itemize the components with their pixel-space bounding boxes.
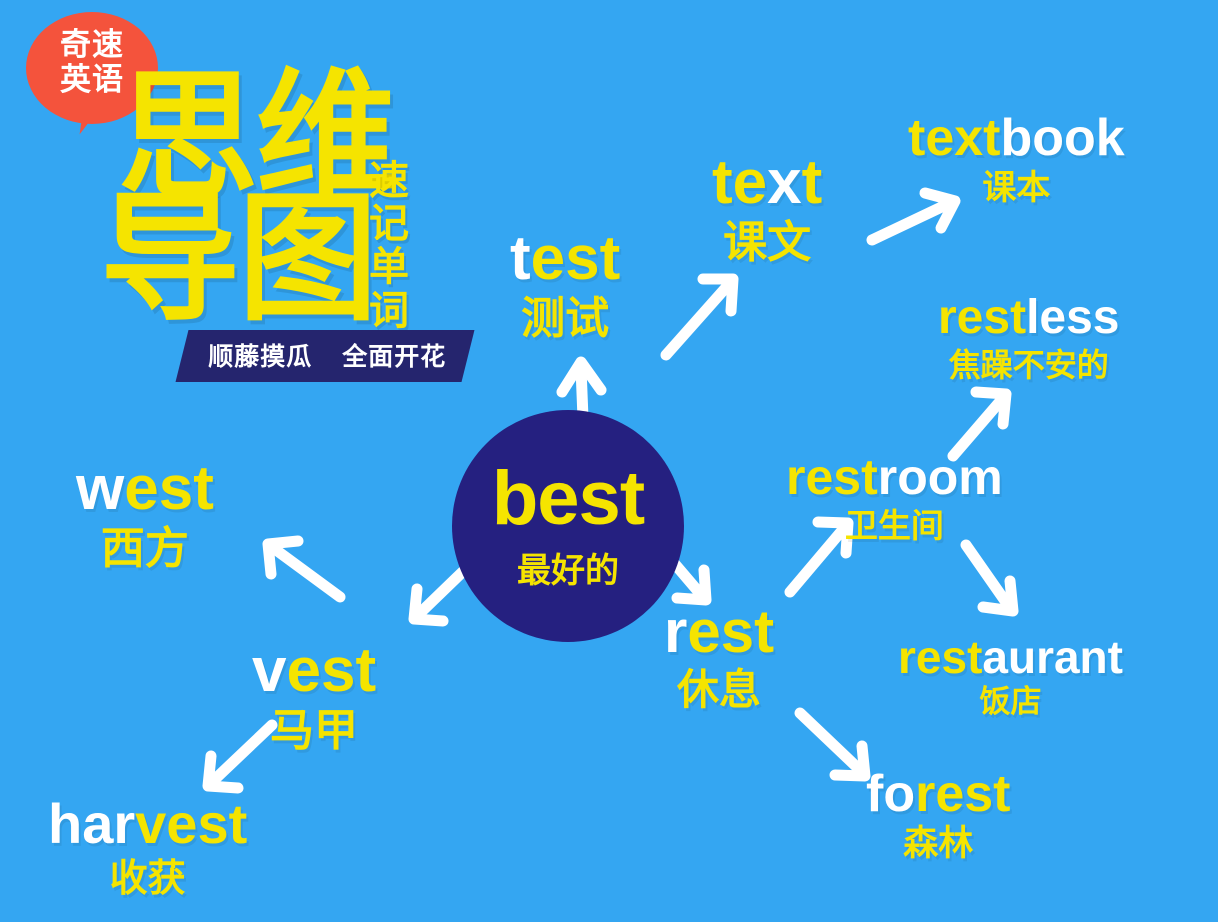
word-node-west[interactable]: west 西方 [76,458,214,571]
word-node-restroom[interactable]: restroom 卫生间 [786,452,1003,542]
arrow-restroom-restless [953,392,1006,456]
word-restroom-cn: 卫生间 [786,509,1003,542]
word-rest-en: rest [664,602,774,662]
center-word: best [492,461,644,537]
word-harvest-cn: 收获 [48,859,247,897]
title-line-2: 导图 [100,196,376,325]
word-node-harvest[interactable]: harvest 收获 [48,796,247,897]
word-textbook-cn: 课本 [908,171,1125,205]
title-vertical-subtitle: 速 记 单 词 [360,160,418,333]
word-node-textbook[interactable]: textbook 课本 [908,112,1125,205]
word-test-cn: 测试 [510,297,620,341]
word-restaurant-cn: 饭店 [898,687,1123,718]
vertical-char-4: 词 [360,290,418,333]
center-meaning: 最好的 [517,543,619,592]
banner-text-left: 顺藤摸瓜 [208,337,312,373]
center-node-best[interactable]: best 最好的 [452,410,684,642]
word-restless-cn: 焦躁不安的 [938,349,1119,381]
banner-text-right: 全面开花 [342,337,446,373]
arrow-test-text [666,279,733,355]
word-vest-en: vest [252,640,376,702]
arrow-restroom-restaurant [966,545,1013,611]
word-text-cn: 课文 [712,221,822,265]
word-restless-en: restless [938,294,1119,342]
word-test-en: test [510,228,620,290]
title-banner: 顺藤摸瓜 全面开花 [176,330,475,382]
word-node-restaurant[interactable]: restaurant 饭店 [898,634,1123,718]
word-textbook-en: textbook [908,112,1125,164]
word-restroom-en: restroom [786,452,1003,502]
word-node-test[interactable]: test 测试 [510,228,620,341]
word-rest-cn: 休息 [664,669,774,711]
word-node-forest[interactable]: forest 森林 [866,768,1011,862]
vertical-char-3: 单 [360,246,418,289]
arrow-rest-forest [800,713,865,776]
word-node-text[interactable]: text 课文 [712,152,822,265]
word-harvest-en: harvest [48,796,247,852]
word-forest-en: forest [866,768,1011,820]
word-node-rest[interactable]: rest 休息 [664,602,774,711]
word-node-restless[interactable]: restless 焦躁不安的 [938,294,1119,381]
word-vest-cn: 马甲 [252,709,376,753]
word-text-en: text [712,152,822,214]
word-west-en: west [76,458,214,520]
word-node-vest[interactable]: vest 马甲 [252,640,376,753]
vertical-char-1: 速 [360,160,418,203]
mindmap-canvas: .ar { fill:none; stroke:#FFFFFF; stroke-… [0,0,1218,922]
word-restaurant-en: restaurant [898,634,1123,680]
vertical-char-2: 记 [360,203,418,246]
arrow-vest-west [268,541,340,597]
word-west-cn: 西方 [76,527,214,571]
word-forest-cn: 森林 [866,827,1011,862]
